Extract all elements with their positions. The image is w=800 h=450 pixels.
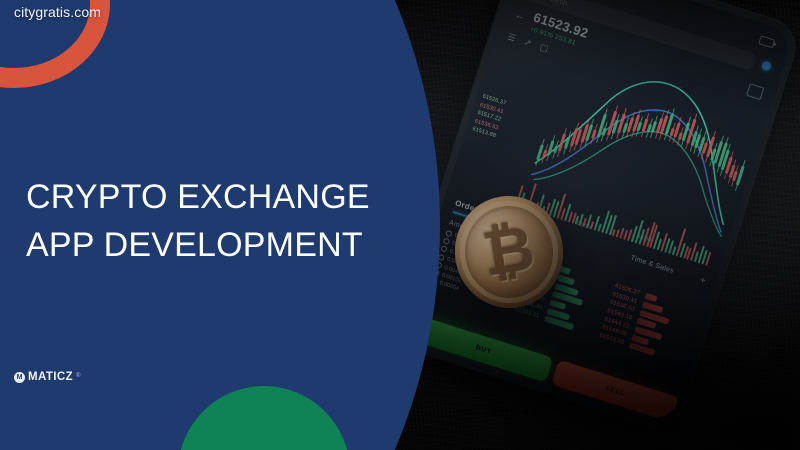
registered-trademark-icon: ® bbox=[76, 373, 80, 379]
brand-logo[interactable]: M MATICZ ® bbox=[14, 372, 80, 383]
logo-mark-icon: M bbox=[14, 372, 25, 383]
brand-name: MATICZ bbox=[28, 372, 73, 383]
title-line-1: CRYPTO EXCHANGE bbox=[26, 178, 370, 216]
title-line-2: APP DEVELOPMENT bbox=[26, 221, 426, 269]
promo-banner: Search ← 61523.92 bbox=[0, 0, 800, 450]
site-watermark: citygratis.com bbox=[14, 4, 101, 20]
page-title: CRYPTO EXCHANGE APP DEVELOPMENT bbox=[26, 173, 426, 270]
